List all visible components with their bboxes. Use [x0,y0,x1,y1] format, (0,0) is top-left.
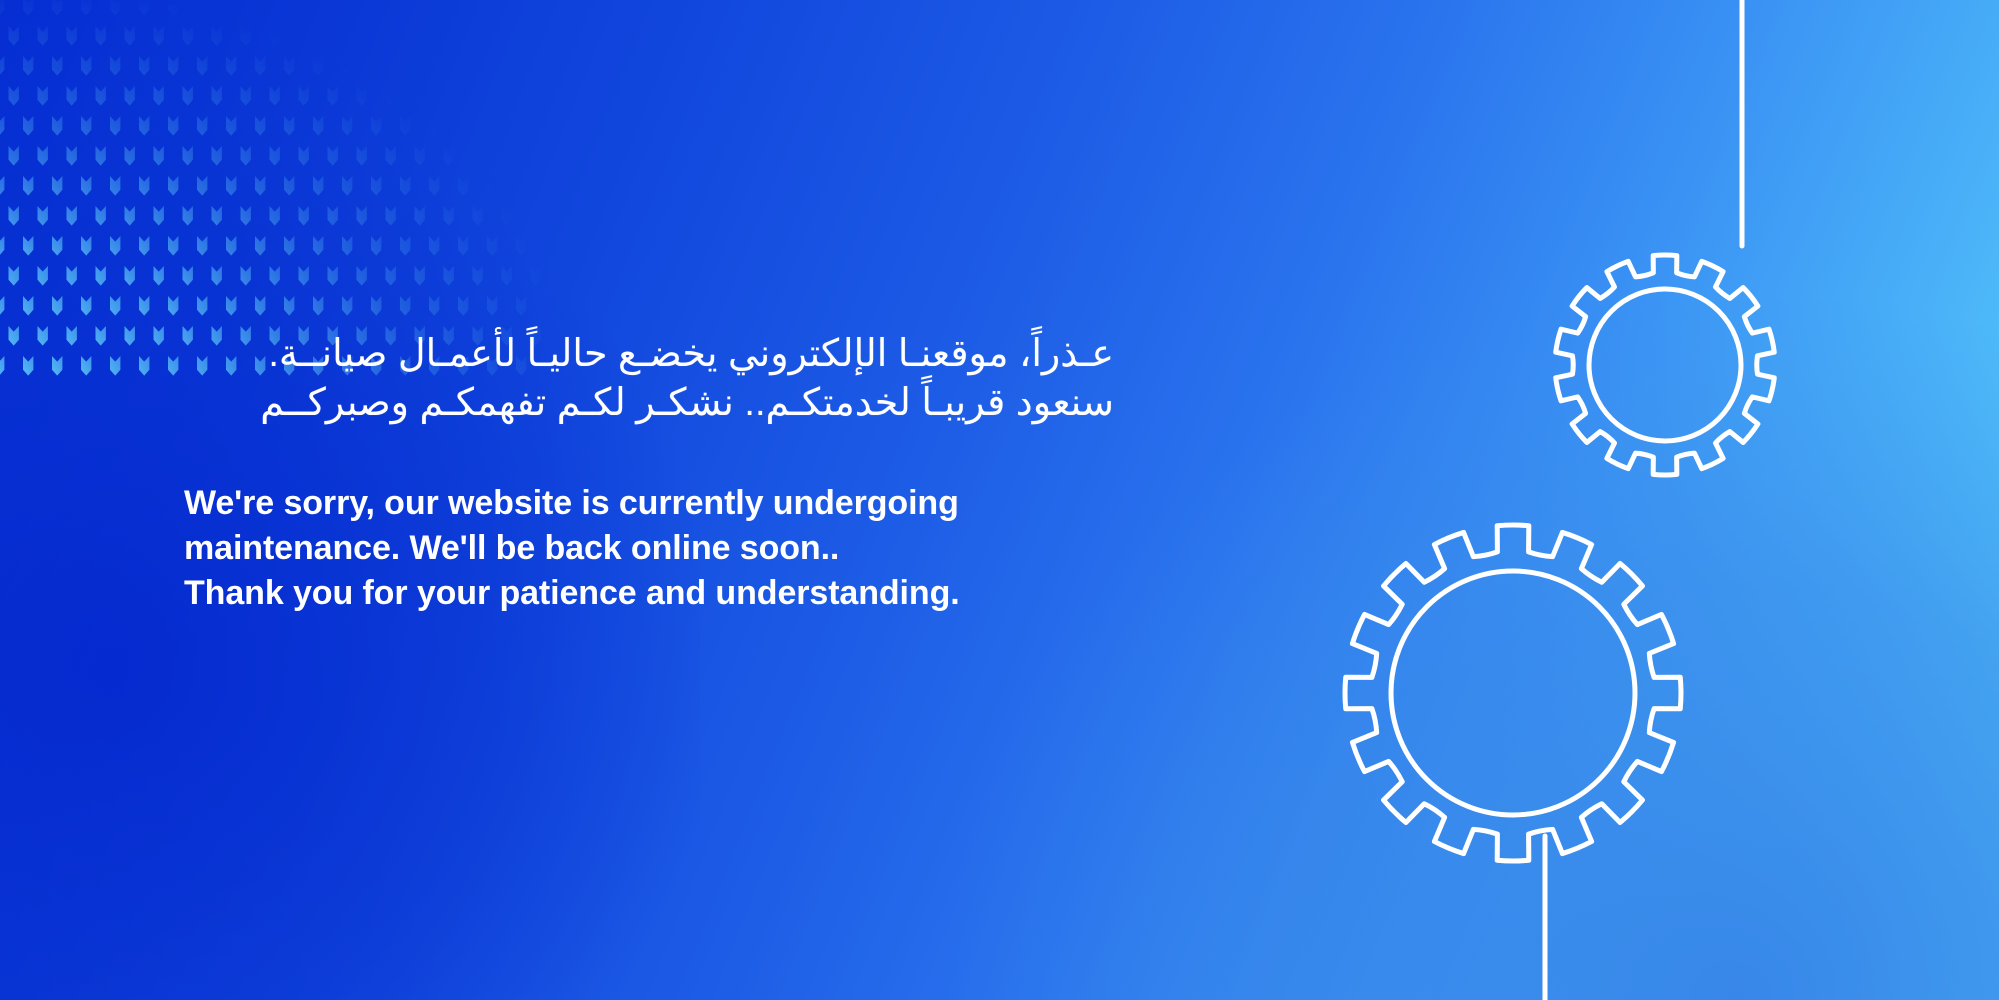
english-line-3: Thank you for your patience and understa… [184,571,1184,616]
english-line-2: maintenance. We'll be back online soon.. [184,526,1184,571]
english-message: We're sorry, our website is currently un… [184,429,1184,616]
english-line-1: We're sorry, our website is currently un… [184,481,1184,526]
small-gear-inner-circle [1589,289,1741,441]
large-gear-inner-circle [1391,571,1635,815]
arabic-line-2: سنعود قريبـاً لخدمتكـم.. نشكـر لكـم تفهم… [184,379,1114,428]
message-block: عـذراً، موقعنـا الإلكتروني يخضـع حاليـاً… [184,330,1184,615]
small-gear-outer [1556,255,1775,475]
arabic-line-1: عـذراً، موقعنـا الإلكتروني يخضـع حاليـاً… [184,330,1114,379]
arabic-message: عـذراً، موقعنـا الإلكتروني يخضـع حاليـاً… [184,330,1114,429]
large-gear-outer [1345,525,1681,861]
maintenance-page: عـذراً، موقعنـا الإلكتروني يخضـع حاليـاً… [0,0,1999,1000]
